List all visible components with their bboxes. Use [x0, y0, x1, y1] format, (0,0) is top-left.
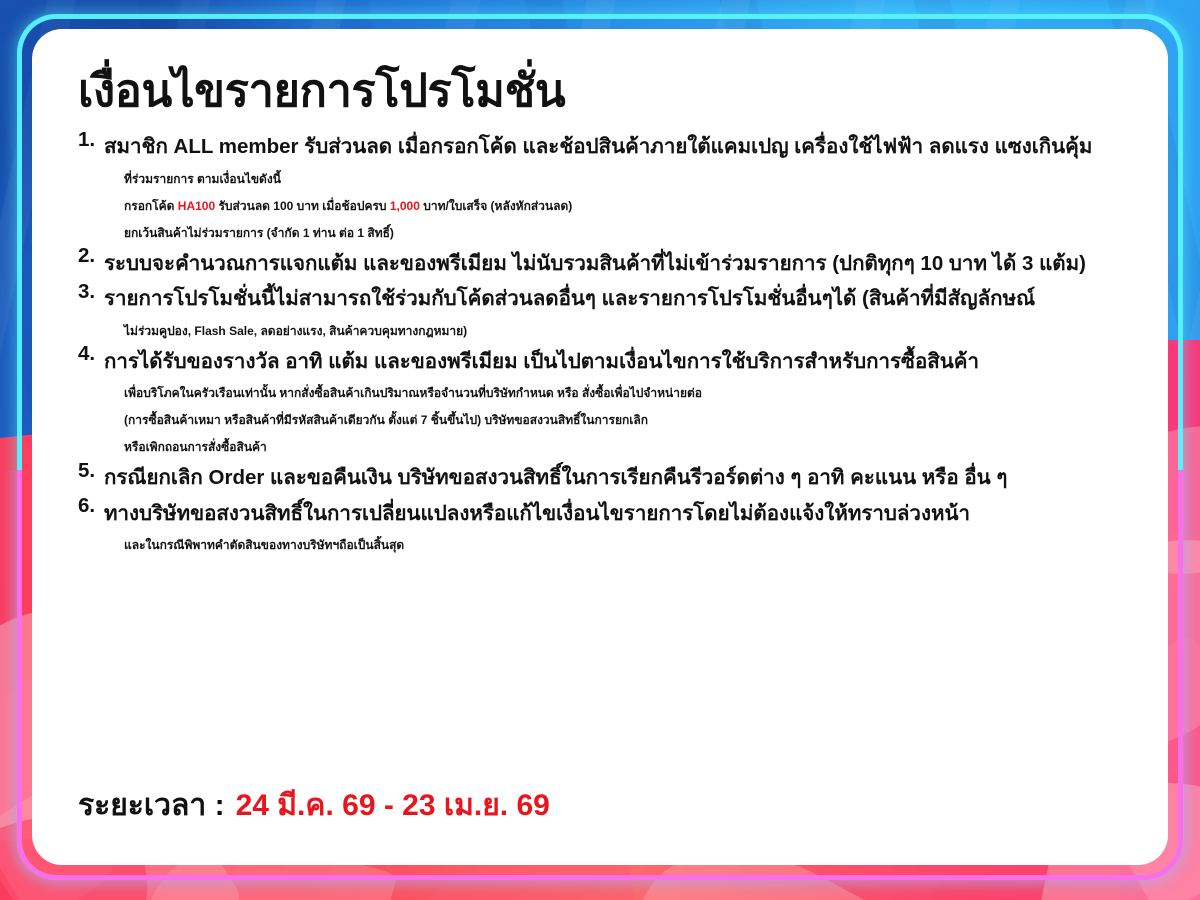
term-number: 2.: [78, 246, 104, 267]
term-body: ทางบริษัทขอสงวนสิทธิ์ในการเปลี่ยนแปลงหรื…: [104, 496, 1122, 559]
term-number: 3.: [78, 282, 104, 303]
term-item: 1.สมาชิก ALL member รับส่วนลด เมื่อกรอกโ…: [78, 130, 1122, 247]
highlighted-value: 1,000: [390, 199, 420, 213]
term-text: เพื่อบริโภคในครัวเรือนเท่านั้น หากสั่งซื…: [124, 386, 702, 400]
term-line: หรือเพิกถอนการสั่งซื้อสินค้า: [104, 434, 1122, 461]
term-text: ระบบจะคำนวณการแจกแต้ม และของพรีเมียม ไม่…: [104, 252, 1086, 275]
term-line: ที่ร่วมรายการ ตามเงื่อนไขดังนี้: [104, 165, 1122, 192]
term-text: และในกรณีพิพาทคำตัดสินของทางบริษัทฯถือเป…: [124, 538, 404, 552]
term-text: รายการโปรโมชั่นนี้ไม่สามารถใช้ร่วมกับโค้…: [104, 287, 1035, 310]
term-line: การได้รับของรางวัล อาทิ แต้ม และของพรีเม…: [104, 344, 1122, 380]
term-body: ระบบจะคำนวณการแจกแต้ม และของพรีเมียม ไม่…: [104, 246, 1122, 282]
term-line: กรอกโค้ด HA100 รับส่วนลด 100 บาท เมื่อช้…: [104, 192, 1122, 219]
term-text: สมาชิก ALL member รับส่วนลด เมื่อกรอกโค้…: [104, 135, 1092, 158]
term-line: สมาชิก ALL member รับส่วนลด เมื่อกรอกโค้…: [104, 130, 1122, 166]
term-line: กรณียกเลิก Order และขอคืนเงิน บริษัทขอสง…: [104, 461, 1122, 497]
term-text: การได้รับของรางวัล อาทิ แต้ม และของพรีเม…: [104, 350, 979, 373]
term-line: ไม่ร่วมคูปอง, Flash Sale, ลดอย่างแรง, สิ…: [104, 317, 1122, 344]
term-text: หรือเพิกถอนการสั่งซื้อสินค้า: [124, 440, 267, 454]
promotion-period: ระยะเวลา : 24 มี.ค. 69 - 23 เม.ย. 69: [78, 782, 550, 829]
highlighted-value: HA100: [178, 199, 215, 213]
term-text: ไม่ร่วมคูปอง, Flash Sale, ลดอย่างแรง, สิ…: [124, 324, 467, 338]
terms-card: เงื่อนไขรายการโปรโมชั่น 1.สมาชิก ALL mem…: [32, 29, 1168, 865]
term-text: รับส่วนลด 100 บาท เมื่อช้อปครบ: [215, 199, 390, 213]
term-text: ยกเว้นสินค้าไม่ร่วมรายการ (จำกัด 1 ท่าน …: [124, 226, 394, 240]
term-line: และในกรณีพิพาทคำตัดสินของทางบริษัทฯถือเป…: [104, 532, 1122, 559]
term-line: เพื่อบริโภคในครัวเรือนเท่านั้น หากสั่งซื…: [104, 380, 1122, 407]
term-text: กรอกโค้ด: [124, 199, 178, 213]
term-text: ที่ร่วมรายการ ตามเงื่อนไขดังนี้: [124, 172, 281, 186]
term-text: กรณียกเลิก Order และขอคืนเงิน บริษัทขอสง…: [104, 466, 1007, 489]
term-text: บาท/ใบเสร็จ (หลังหักส่วนลด): [420, 199, 572, 213]
term-item: 2.ระบบจะคำนวณการแจกแต้ม และของพรีเมียม ไ…: [78, 246, 1122, 282]
term-body: การได้รับของรางวัล อาทิ แต้ม และของพรีเม…: [104, 344, 1122, 461]
term-item: 4.การได้รับของรางวัล อาทิ แต้ม และของพรี…: [78, 344, 1122, 461]
term-number: 1.: [78, 130, 104, 151]
promotion-period-label: ระยะเวลา :: [78, 782, 225, 829]
term-body: รายการโปรโมชั่นนี้ไม่สามารถใช้ร่วมกับโค้…: [104, 282, 1122, 345]
promotion-period-value: 24 มี.ค. 69 - 23 เม.ย. 69: [236, 782, 550, 829]
term-body: สมาชิก ALL member รับส่วนลด เมื่อกรอกโค้…: [104, 130, 1122, 247]
term-item: 6.ทางบริษัทขอสงวนสิทธิ์ในการเปลี่ยนแปลงห…: [78, 496, 1122, 559]
term-body: กรณียกเลิก Order และขอคืนเงิน บริษัทขอสง…: [104, 461, 1122, 497]
term-text: (การซื้อสินค้าเหมา หรือสินค้าที่มีรหัสสิ…: [124, 413, 648, 427]
term-number: 4.: [78, 344, 104, 365]
term-line: (การซื้อสินค้าเหมา หรือสินค้าที่มีรหัสสิ…: [104, 407, 1122, 434]
term-line: ทางบริษัทขอสงวนสิทธิ์ในการเปลี่ยนแปลงหรื…: [104, 496, 1122, 532]
term-number: 6.: [78, 496, 104, 517]
term-item: 5.กรณียกเลิก Order และขอคืนเงิน บริษัทขอ…: [78, 461, 1122, 497]
term-number: 5.: [78, 461, 104, 482]
term-line: ยกเว้นสินค้าไม่ร่วมรายการ (จำกัด 1 ท่าน …: [104, 219, 1122, 246]
term-line: ระบบจะคำนวณการแจกแต้ม และของพรีเมียม ไม่…: [104, 246, 1122, 282]
page-title: เงื่อนไขรายการโปรโมชั่น: [78, 67, 1122, 116]
term-text: ทางบริษัทขอสงวนสิทธิ์ในการเปลี่ยนแปลงหรื…: [104, 502, 970, 525]
terms-list: 1.สมาชิก ALL member รับส่วนลด เมื่อกรอกโ…: [78, 130, 1122, 559]
term-item: 3.รายการโปรโมชั่นนี้ไม่สามารถใช้ร่วมกับโ…: [78, 282, 1122, 345]
term-line: รายการโปรโมชั่นนี้ไม่สามารถใช้ร่วมกับโค้…: [104, 282, 1122, 318]
